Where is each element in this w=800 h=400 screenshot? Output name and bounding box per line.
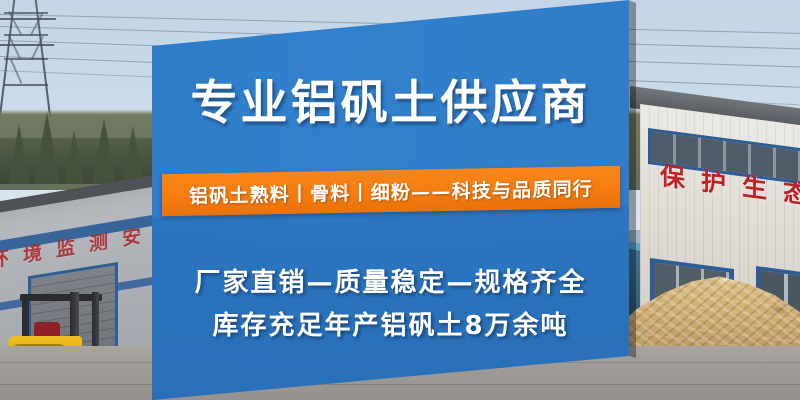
subline-2: 库存充足年产铝矾土8万余吨	[152, 305, 629, 342]
promo-banner: 环 境 监 测 安 全 为 首	[0, 0, 800, 400]
orange-ribbon-text: 铝矾土熟料丨骨料丨细粉——科技与品质同行	[189, 174, 593, 208]
subline-1: 厂家直销—质量稳定—规格齐全	[152, 262, 629, 299]
banner-content: 专业铝矾土供应商 铝矾土熟料丨骨料丨细粉——科技与品质同行 厂家直销—质量稳定—…	[0, 0, 800, 400]
headline: 专业铝矾土供应商	[152, 78, 629, 130]
orange-ribbon: 铝矾土熟料丨骨料丨细粉——科技与品质同行	[162, 166, 620, 216]
